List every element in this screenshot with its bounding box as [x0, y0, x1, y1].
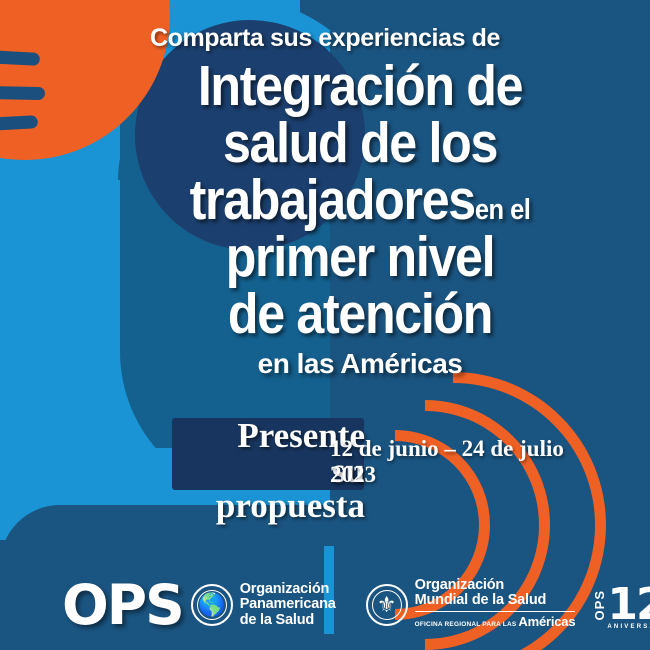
headline-line-4: primer nivel — [175, 229, 545, 286]
anniversary-word: ANIVERSARIO — [607, 624, 650, 630]
anniversary-logo: OPS 120 ANIVERSARIO 🌎 — [593, 582, 650, 628]
who-globe-glyph: ⚜ — [377, 594, 397, 616]
headline-line-3-wrap: trabajadoresen el — [175, 172, 545, 229]
poster-kicker: Comparta sus experiencias de — [0, 24, 650, 53]
poster-headline: Integración de salud de los trabajadores… — [150, 58, 570, 381]
paho-globe-seal-icon: 🌎 — [191, 584, 233, 626]
paho-line-1: Organización — [240, 581, 329, 597]
anniversary-number: 120 — [607, 584, 650, 626]
headline-line-3-suffix: en el — [475, 194, 531, 226]
who-logo-group: ⚜ Organización Mundial de la Salud OFICI… — [358, 578, 576, 633]
who-line-1: Organización — [415, 577, 504, 593]
who-emblem-icon: ⚜ — [366, 584, 408, 626]
cta-line-3: propuesta — [130, 488, 365, 523]
who-seal-inner-ring: ⚜ — [372, 590, 402, 620]
globe-glyph: 🌎 — [198, 594, 225, 616]
headline-line-5: de atención — [175, 286, 545, 343]
headline-line-6: en las Américas — [150, 347, 570, 381]
paho-line-2: Panamericana — [240, 596, 336, 612]
paho-line-3: de la Salud — [240, 612, 314, 628]
who-organization-name: Organización Mundial de la Salud OFICINA… — [415, 578, 576, 633]
headline-line-1: Integración de — [175, 58, 545, 115]
paho-organization-name: Organización Panamericana de la Salud — [240, 582, 336, 629]
anniversary-ops-label: OPS — [593, 590, 606, 620]
who-region-line: OFICINA REGIONAL PARA LAS Américas — [415, 611, 576, 633]
who-line-2: Mundial de la Salud — [415, 592, 547, 608]
who-sub-prefix: OFICINA REGIONAL PARA LAS — [415, 621, 517, 628]
event-dates: 12 de junio – 24 de julio 2023 — [330, 436, 600, 488]
headline-line-2: salud de los — [175, 115, 545, 172]
paho-seal-inner-ring: 🌎 — [197, 590, 227, 620]
logo-row: OPS 🌎 Organización Panamericana de la Sa… — [0, 560, 650, 650]
ops-wordmark: OPS — [62, 578, 183, 633]
who-sub-region: Américas — [518, 614, 575, 629]
headline-line-3: trabajadores — [190, 168, 475, 232]
orange-stripe-2 — [0, 84, 45, 100]
poster-canvas: 2 Comparta sus experiencias de Integraci… — [0, 0, 650, 650]
